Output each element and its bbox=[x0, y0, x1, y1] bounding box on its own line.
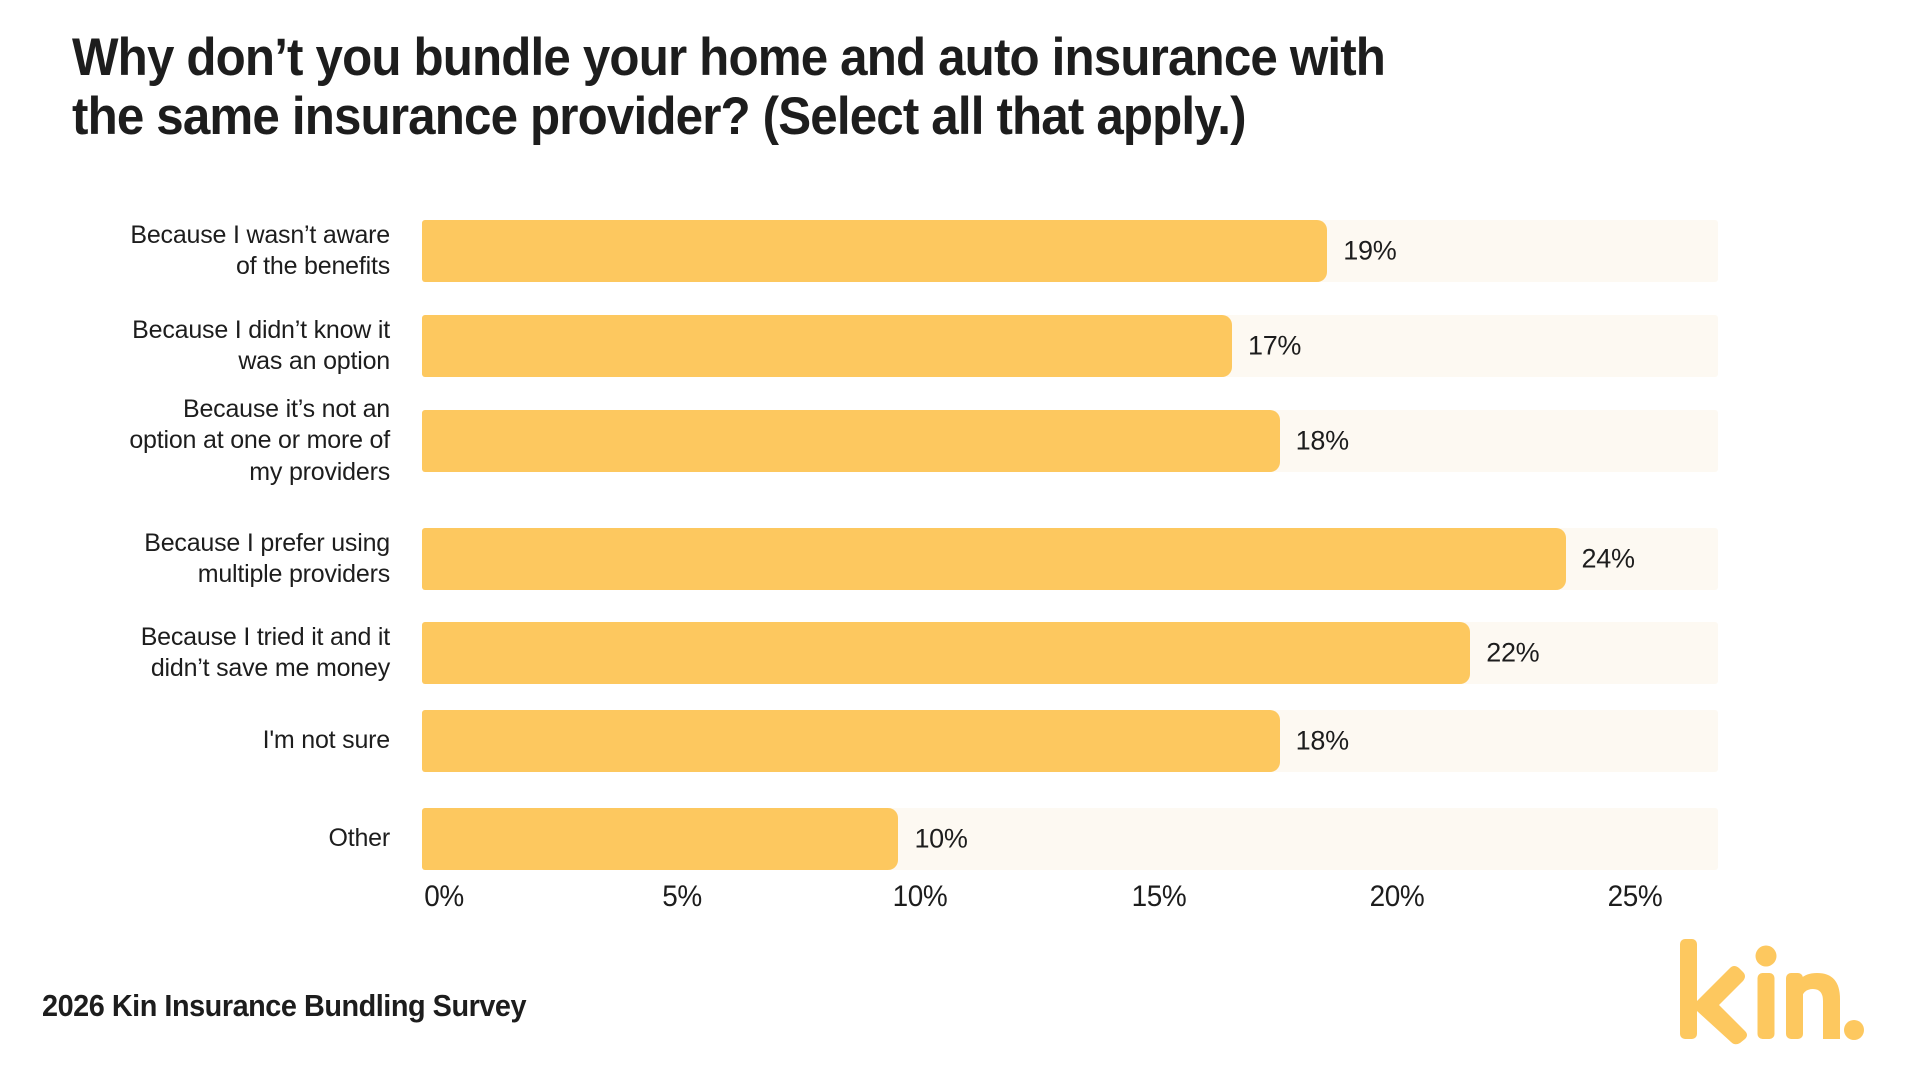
bar-track: 18% bbox=[422, 410, 1718, 472]
bar-value-label: 17% bbox=[1248, 331, 1301, 362]
page-title: Why don’t you bundle your home and auto … bbox=[72, 28, 1579, 147]
bar-track: 22% bbox=[422, 622, 1718, 684]
bar-row: I'm not sure18% bbox=[0, 710, 1920, 772]
bar-value-label: 18% bbox=[1296, 726, 1349, 757]
bar-fill bbox=[422, 808, 898, 870]
bar-chart: Because I wasn’t aware of the benefits19… bbox=[0, 210, 1920, 870]
bar-fill bbox=[422, 220, 1327, 282]
bar-fill bbox=[422, 528, 1566, 590]
bar-value-label: 10% bbox=[914, 824, 967, 855]
x-axis-tick: 5% bbox=[662, 880, 702, 914]
bar-row: Because I didn’t know it was an option17… bbox=[0, 315, 1920, 377]
bar-fill bbox=[422, 410, 1280, 472]
bar-fill bbox=[422, 315, 1232, 377]
x-axis-tick: 15% bbox=[1131, 880, 1186, 914]
bar-row: Because I tried it and it didn’t save me… bbox=[0, 622, 1920, 684]
footer-caption: 2026 Kin Insurance Bundling Survey bbox=[42, 988, 526, 1024]
bar-row: Because it’s not an option at one or mor… bbox=[0, 410, 1920, 472]
x-axis-tick: 10% bbox=[893, 880, 948, 914]
bar-row: Other10% bbox=[0, 808, 1920, 870]
x-axis-tick: 0% bbox=[424, 880, 464, 914]
x-axis-tick: 25% bbox=[1608, 880, 1663, 914]
bar-category-label: Other bbox=[0, 823, 410, 855]
bar-track: 24% bbox=[422, 528, 1718, 590]
bar-fill bbox=[422, 622, 1470, 684]
x-axis-tick: 20% bbox=[1370, 880, 1425, 914]
bar-category-label: Because I didn’t know it was an option bbox=[0, 315, 410, 378]
bar-track: 17% bbox=[422, 315, 1718, 377]
bar-category-label: Because I prefer using multiple provider… bbox=[0, 528, 410, 591]
bar-category-label: Because I tried it and it didn’t save me… bbox=[0, 622, 410, 685]
bar-category-label: I'm not sure bbox=[0, 725, 410, 757]
bar-track: 18% bbox=[422, 710, 1718, 772]
x-axis: 0%5%10%15%20%25% bbox=[0, 880, 1920, 930]
kin-logo bbox=[1674, 935, 1864, 1045]
bar-value-label: 24% bbox=[1582, 544, 1635, 575]
bar-category-label: Because it’s not an option at one or mor… bbox=[0, 394, 410, 489]
bar-row: Because I prefer using multiple provider… bbox=[0, 528, 1920, 590]
bar-track: 10% bbox=[422, 808, 1718, 870]
bar-value-label: 18% bbox=[1296, 426, 1349, 457]
bar-category-label: Because I wasn’t aware of the benefits bbox=[0, 220, 410, 283]
bar-value-label: 22% bbox=[1486, 638, 1539, 669]
bar-value-label: 19% bbox=[1343, 236, 1396, 267]
bar-fill bbox=[422, 710, 1280, 772]
bar-track: 19% bbox=[422, 220, 1718, 282]
bar-row: Because I wasn’t aware of the benefits19… bbox=[0, 220, 1920, 282]
